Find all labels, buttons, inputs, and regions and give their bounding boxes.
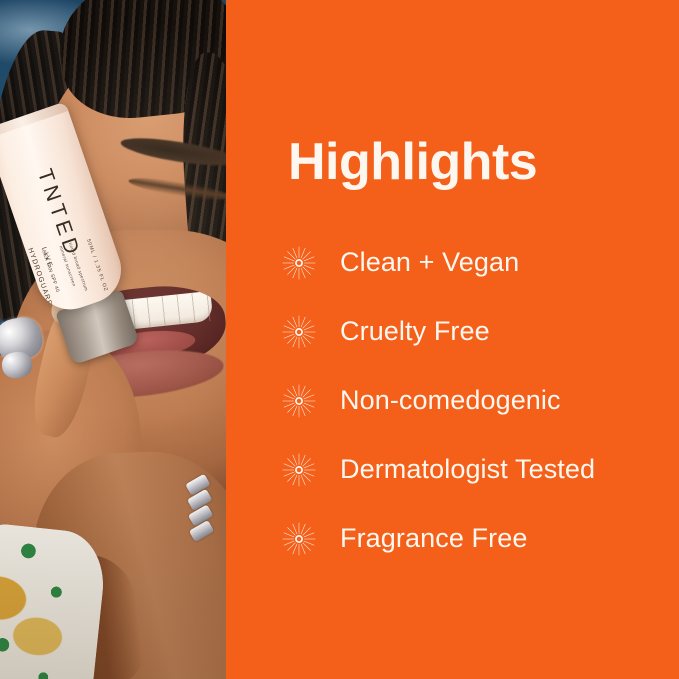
list-item-label: Non-comedogenic [340,385,561,416]
list-item-label: Clean + Vegan [340,247,519,278]
sunburst-icon [282,384,316,418]
highlights-list: Clean + Vegan Cruelty Free Non-comedogen… [282,228,679,573]
sunburst-icon [282,453,316,487]
list-item: Clean + Vegan [282,228,679,297]
sunburst-icon [282,246,316,280]
list-item: Non-comedogenic [282,366,679,435]
product-lifestyle-photo: TNTED LIVE HYDROGUARD TINT SEA TAN SPF 4… [0,0,226,679]
list-item: Dermatologist Tested [282,435,679,504]
sunburst-icon [282,315,316,349]
list-item-label: Fragrance Free [340,523,527,554]
sunburst-icon [282,522,316,556]
page-title: Highlights [288,136,537,188]
list-item: Cruelty Free [282,297,679,366]
highlights-panel: Highlights Clean + Vegan Cruelty Free No… [226,0,679,679]
patterned-shirt [0,522,109,679]
list-item: Fragrance Free [282,504,679,573]
list-item-label: Cruelty Free [340,316,490,347]
list-item-label: Dermatologist Tested [340,454,595,485]
product-highlight-graphic: TNTED LIVE HYDROGUARD TINT SEA TAN SPF 4… [0,0,679,679]
